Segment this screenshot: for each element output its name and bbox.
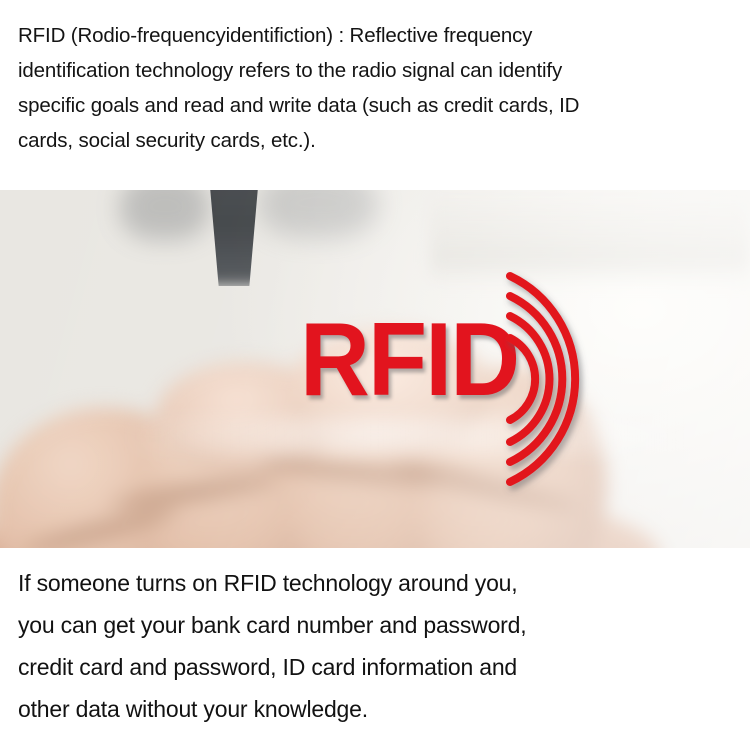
warning-line-2: you can get your bank card number and pa…	[18, 604, 734, 646]
rfid-logo-wordmark: RFID	[300, 308, 518, 412]
rfid-risk-paragraph: If someone turns on RFID technology arou…	[0, 548, 750, 750]
intro-line-2: identification technology refers to the …	[18, 53, 734, 88]
photo-background-shoulder-right	[258, 190, 378, 238]
rfid-hand-photo: RFID	[0, 190, 750, 548]
rfid-logo: RFID	[300, 260, 720, 480]
wave-arc-2	[510, 316, 549, 442]
rfid-info-page: RFID (Rodio-frequencyidentifiction) : Re…	[0, 0, 750, 750]
warning-line-1: If someone turns on RFID technology arou…	[18, 562, 734, 604]
photo-background-shoulder-left	[120, 190, 210, 240]
warning-line-4: other data without your knowledge.	[18, 688, 734, 730]
intro-line-3: specific goals and read and write data (…	[18, 88, 734, 123]
intro-line-1: RFID (Rodio-frequencyidentifiction) : Re…	[18, 18, 734, 53]
rfid-definition-paragraph: RFID (Rodio-frequencyidentifiction) : Re…	[0, 0, 750, 190]
intro-line-4: cards, social security cards, etc.).	[18, 123, 734, 158]
rfid-signal-waves-icon	[516, 260, 720, 480]
warning-line-3: credit card and password, ID card inform…	[18, 646, 734, 688]
